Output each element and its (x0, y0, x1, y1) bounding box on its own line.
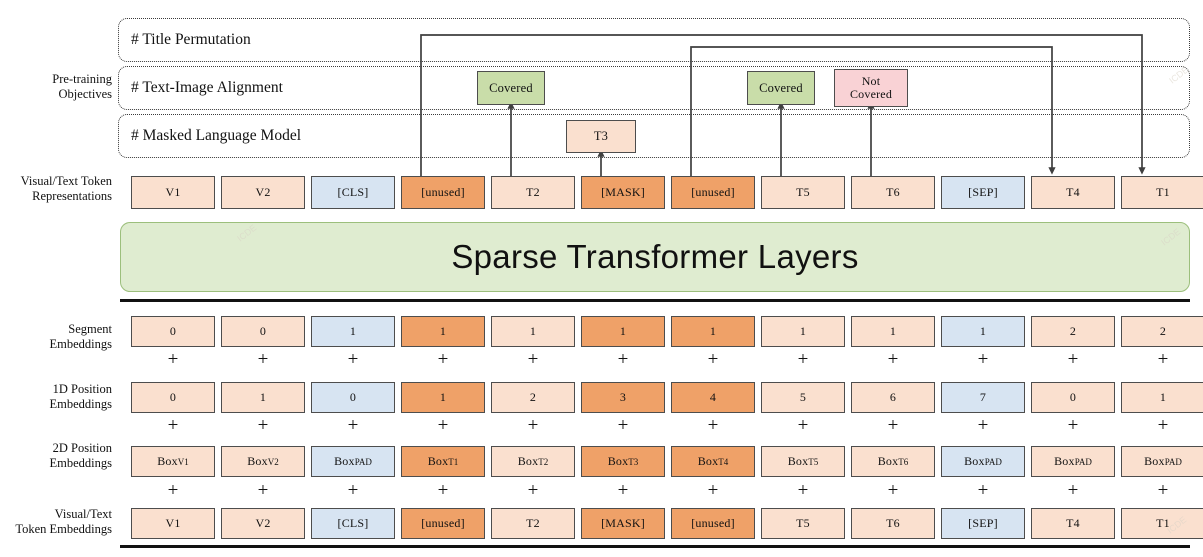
plus-sign-col-9-row-1: + (851, 350, 935, 369)
pos2d-box-subscript-col-12: PAD (1165, 457, 1182, 467)
label-token-representations: Visual/Text Token Representations (0, 174, 112, 204)
token-representation-col-11: T4 (1031, 176, 1115, 209)
pos2d-embedding-col-8: BoxT5 (761, 446, 845, 477)
objective-label-text-image-alignment: # Text-Image Alignment (131, 79, 283, 97)
plus-sign-col-6-row-3: + (581, 481, 665, 500)
token-representation-col-8: T5 (761, 176, 845, 209)
prediction-covered-t5: Covered (747, 71, 815, 105)
plus-sign-col-4-row-3: + (401, 481, 485, 500)
segment-embedding-col-8: 1 (761, 316, 845, 347)
pos1d-embedding-col-5: 2 (491, 382, 575, 413)
pos2d-embedding-col-5: BoxT2 (491, 446, 575, 477)
pos2d-box-subscript-col-7: T4 (718, 457, 728, 467)
token-representation-col-7: [unused] (671, 176, 755, 209)
token-representation-col-5: T2 (491, 176, 575, 209)
token-embedding-col-11: T4 (1031, 508, 1115, 539)
token-representation-col-10: [SEP] (941, 176, 1025, 209)
pos1d-embedding-col-6: 3 (581, 382, 665, 413)
plus-sign-col-11-row-3: + (1031, 481, 1115, 500)
plus-sign-col-7-row-1: + (671, 350, 755, 369)
plus-sign-col-3-row-2: + (311, 416, 395, 435)
pos2d-box-subscript-col-5: T2 (538, 457, 548, 467)
objective-label-title-permutation: # Title Permutation (131, 31, 251, 49)
pos2d-embedding-col-7: BoxT4 (671, 446, 755, 477)
pos2d-embedding-col-10: BoxPAD (941, 446, 1025, 477)
plus-sign-col-8-row-3: + (761, 481, 845, 500)
pos1d-embedding-col-12: 1 (1121, 382, 1203, 413)
plus-sign-col-9-row-2: + (851, 416, 935, 435)
plus-sign-col-1-row-2: + (131, 416, 215, 435)
pos2d-box-subscript-col-3: PAD (355, 457, 372, 467)
segment-embedding-col-1: 0 (131, 316, 215, 347)
segment-embedding-col-9: 1 (851, 316, 935, 347)
pos1d-embedding-col-8: 5 (761, 382, 845, 413)
not-covered-line-2: Covered (850, 88, 892, 101)
token-embedding-col-8: T5 (761, 508, 845, 539)
plus-sign-col-2-row-1: + (221, 350, 305, 369)
rule-below-embeddings (120, 545, 1190, 548)
pos2d-box-label-col-12: Box (1144, 454, 1165, 469)
pos2d-box-subscript-col-6: T3 (628, 457, 638, 467)
pos1d-embedding-col-4: 1 (401, 382, 485, 413)
token-representation-col-9: T6 (851, 176, 935, 209)
plus-sign-col-3-row-3: + (311, 481, 395, 500)
pos2d-box-label-col-10: Box (964, 454, 985, 469)
plus-sign-col-8-row-1: + (761, 350, 845, 369)
pos2d-embedding-col-9: BoxT6 (851, 446, 935, 477)
plus-sign-col-8-row-2: + (761, 416, 845, 435)
plus-sign-col-12-row-2: + (1121, 416, 1203, 435)
pos1d-embedding-col-10: 7 (941, 382, 1025, 413)
label-1d-position-embeddings: 1D Position Embeddings (0, 382, 112, 412)
token-representation-col-4: [unused] (401, 176, 485, 209)
pos2d-box-label-col-9: Box (878, 454, 899, 469)
plus-sign-col-7-row-3: + (671, 481, 755, 500)
objective-panel-text-image-alignment: # Text-Image Alignment (118, 66, 1190, 110)
prediction-mlm-t3: T3 (566, 120, 636, 153)
plus-sign-col-10-row-2: + (941, 416, 1025, 435)
pos1d-embedding-col-11: 0 (1031, 382, 1115, 413)
token-representation-col-3: [CLS] (311, 176, 395, 209)
pos2d-box-label-col-11: Box (1054, 454, 1075, 469)
prediction-not-covered-t6: Not Covered (834, 69, 908, 107)
plus-sign-col-4-row-1: + (401, 350, 485, 369)
label-token-embeddings: Visual/Text Token Embeddings (0, 507, 112, 537)
pos2d-box-subscript-col-9: T6 (898, 457, 908, 467)
token-embedding-col-9: T6 (851, 508, 935, 539)
pos2d-embedding-col-12: BoxPAD (1121, 446, 1203, 477)
plus-sign-col-6-row-2: + (581, 416, 665, 435)
token-representation-col-12: T1 (1121, 176, 1203, 209)
plus-sign-col-2-row-2: + (221, 416, 305, 435)
plus-sign-col-10-row-1: + (941, 350, 1025, 369)
plus-sign-col-3-row-1: + (311, 350, 395, 369)
plus-sign-col-11-row-2: + (1031, 416, 1115, 435)
segment-embedding-col-4: 1 (401, 316, 485, 347)
plus-sign-col-7-row-2: + (671, 416, 755, 435)
token-embedding-col-3: [CLS] (311, 508, 395, 539)
pos1d-embedding-col-9: 6 (851, 382, 935, 413)
segment-embedding-col-5: 1 (491, 316, 575, 347)
pos2d-box-subscript-col-10: PAD (985, 457, 1002, 467)
pos2d-box-label-col-2: Box (247, 454, 268, 469)
token-embedding-col-2: V2 (221, 508, 305, 539)
segment-embedding-col-6: 1 (581, 316, 665, 347)
segment-embedding-col-3: 1 (311, 316, 395, 347)
pos1d-embedding-col-2: 1 (221, 382, 305, 413)
pos2d-embedding-col-6: BoxT3 (581, 446, 665, 477)
token-embedding-col-4: [unused] (401, 508, 485, 539)
objective-label-masked-language-model: # Masked Language Model (131, 127, 301, 145)
segment-embedding-col-12: 2 (1121, 316, 1203, 347)
pos2d-box-label-col-1: Box (157, 454, 178, 469)
token-representation-col-1: V1 (131, 176, 215, 209)
pos2d-box-subscript-col-1: V1 (178, 457, 189, 467)
plus-sign-col-4-row-2: + (401, 416, 485, 435)
pos2d-embedding-col-11: BoxPAD (1031, 446, 1115, 477)
pos1d-embedding-col-7: 4 (671, 382, 755, 413)
plus-sign-col-9-row-3: + (851, 481, 935, 500)
token-embedding-col-12: T1 (1121, 508, 1203, 539)
objective-panel-masked-language-model: # Masked Language Model (118, 114, 1190, 158)
pos2d-embedding-col-4: BoxT1 (401, 446, 485, 477)
token-embedding-col-7: [unused] (671, 508, 755, 539)
pos2d-box-subscript-col-11: PAD (1075, 457, 1092, 467)
label-segment-embeddings: Segment Embeddings (0, 322, 112, 352)
segment-embedding-col-7: 1 (671, 316, 755, 347)
pos2d-embedding-col-2: BoxV2 (221, 446, 305, 477)
plus-sign-col-1-row-3: + (131, 481, 215, 500)
rule-above-transformer (120, 299, 1190, 302)
objective-panel-title-permutation: # Title Permutation (118, 18, 1190, 62)
token-embedding-col-1: V1 (131, 508, 215, 539)
token-representation-col-6: [MASK] (581, 176, 665, 209)
plus-sign-col-5-row-2: + (491, 416, 575, 435)
token-embedding-col-5: T2 (491, 508, 575, 539)
segment-embedding-col-2: 0 (221, 316, 305, 347)
pos2d-box-label-col-6: Box (608, 454, 629, 469)
pos2d-box-label-col-3: Box (334, 454, 355, 469)
pos1d-embedding-col-3: 0 (311, 382, 395, 413)
pos2d-box-label-col-5: Box (518, 454, 539, 469)
plus-sign-col-10-row-3: + (941, 481, 1025, 500)
plus-sign-col-6-row-1: + (581, 350, 665, 369)
pos1d-embedding-col-1: 0 (131, 382, 215, 413)
plus-sign-col-1-row-1: + (131, 350, 215, 369)
prediction-covered-t2: Covered (477, 71, 545, 105)
plus-sign-col-5-row-1: + (491, 350, 575, 369)
plus-sign-col-2-row-3: + (221, 481, 305, 500)
token-embedding-col-6: [MASK] (581, 508, 665, 539)
token-embedding-col-10: [SEP] (941, 508, 1025, 539)
pos2d-embedding-col-3: BoxPAD (311, 446, 395, 477)
plus-sign-col-5-row-3: + (491, 481, 575, 500)
pos2d-box-label-col-8: Box (788, 454, 809, 469)
segment-embedding-col-11: 2 (1031, 316, 1115, 347)
pos2d-embedding-col-1: BoxV1 (131, 446, 215, 477)
pos2d-box-subscript-col-4: T1 (448, 457, 458, 467)
plus-sign-col-11-row-1: + (1031, 350, 1115, 369)
pos2d-box-subscript-col-2: V2 (268, 457, 279, 467)
plus-sign-col-12-row-1: + (1121, 350, 1203, 369)
pos2d-box-label-col-4: Box (428, 454, 449, 469)
pos2d-box-subscript-col-8: T5 (808, 457, 818, 467)
pos2d-box-label-col-7: Box (698, 454, 719, 469)
label-2d-position-embeddings: 2D Position Embeddings (0, 441, 112, 471)
token-representation-col-2: V2 (221, 176, 305, 209)
segment-embedding-col-10: 1 (941, 316, 1025, 347)
sparse-transformer-layers: Sparse Transformer Layers (120, 222, 1190, 292)
label-pretraining-objectives: Pre-training Objectives (0, 72, 112, 102)
plus-sign-col-12-row-3: + (1121, 481, 1203, 500)
